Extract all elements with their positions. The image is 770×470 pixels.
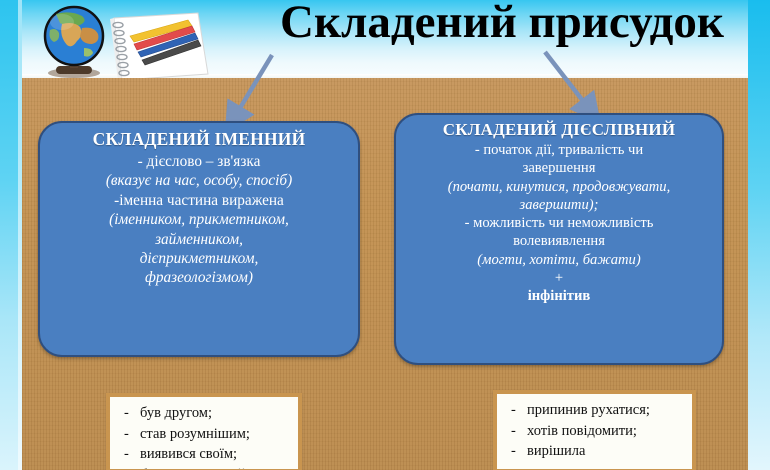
right-box-line: волевиявлення (404, 232, 714, 250)
right-box-line: (почати, кинутися, продовжувати, (404, 178, 714, 196)
list-item: виявився своїм; (118, 444, 294, 465)
left-edge-stripe (0, 0, 22, 470)
compound-nominal-box: СКЛАДЕНИЙ ІМЕННИЙ - дієслово – зв'язка (… (38, 121, 360, 357)
left-box-heading: СКЛАДЕНИЙ ІМЕННИЙ (48, 129, 350, 151)
list-item: був другом; (118, 403, 294, 424)
right-box-line: - початок дії, тривалість чи (404, 141, 714, 159)
list-item: вирішила (505, 441, 688, 462)
list-item: був зацікавлений; (118, 465, 294, 470)
left-box-line: займенником, (48, 230, 350, 249)
left-box-line: фразеологізмом) (48, 268, 350, 287)
compound-verbal-box: СКЛАДЕНИЙ ДІЄСЛІВНИЙ - початок дії, трив… (394, 113, 724, 365)
list-item: промовчати (505, 462, 688, 470)
right-box-line: завершення (404, 159, 714, 177)
right-box-line: (могти, хотіти, бажати) (404, 251, 714, 269)
left-box-line: (іменником, прикметником, (48, 210, 350, 229)
globe-icon (44, 6, 104, 78)
page-title: Складений присудок (222, 0, 748, 49)
left-box-line: - дієслово – зв'язка (48, 152, 350, 171)
list-item: припинив рухатися; (505, 400, 688, 421)
nominal-examples-card: був другом; став розумнішим; виявився св… (106, 393, 302, 470)
right-edge-stripe (748, 0, 770, 470)
right-box-heading: СКЛАДЕНИЙ ДІЄСЛІВНИЙ (404, 119, 714, 140)
list-item: хотів повідомити; (505, 421, 688, 442)
header-band: Складений присудок (22, 0, 748, 78)
slide-root: Складений присудок СКЛАДЕНИЙ ІМЕННИЙ - д… (0, 0, 770, 470)
left-box-line: -іменна частина виражена (48, 191, 350, 210)
left-box-lines: - дієслово – зв'язка (вказує на час, осо… (48, 152, 350, 288)
right-box-line: інфінітив (404, 287, 714, 305)
right-box-lines: - початок дії, тривалість чи завершення … (404, 141, 714, 305)
right-box-line: - можливість чи неможливість (404, 214, 714, 232)
list-item: став розумнішим; (118, 424, 294, 445)
nominal-examples-list: був другом; став розумнішим; виявився св… (118, 403, 294, 470)
left-box-line: (вказує на час, особу, спосіб) (48, 171, 350, 190)
verbal-examples-card: припинив рухатися; хотів повідомити; вир… (493, 390, 696, 470)
verbal-examples-list: припинив рухатися; хотів повідомити; вир… (505, 400, 688, 470)
right-box-line: завершити); (404, 196, 714, 214)
right-box-line: + (404, 269, 714, 287)
left-box-line: дієприкметником, (48, 249, 350, 268)
